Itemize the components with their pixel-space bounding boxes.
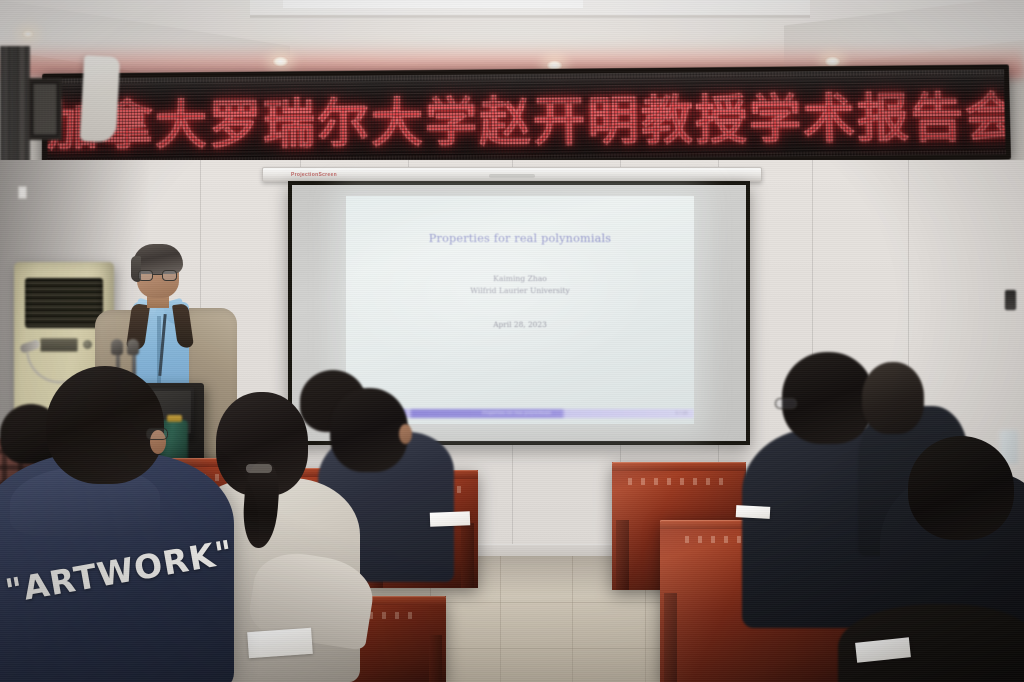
hair-tie [246, 464, 272, 473]
presenter-glasses [138, 270, 178, 281]
ceiling-recess-inner [283, 0, 583, 8]
paper-sheet [430, 511, 470, 526]
draped-cloth [80, 55, 120, 143]
ceiling-downlight [272, 56, 289, 67]
thermos-cap [167, 415, 182, 422]
projector-screen-housing[interactable]: ProjectionScreen [262, 167, 762, 182]
led-glass-sheen [47, 69, 1006, 163]
ac-control-knob[interactable] [83, 340, 92, 349]
led-banner: 加拿大罗瑞尔大学赵开明教授学术报告会 [42, 64, 1011, 168]
housing-center-mark [489, 174, 535, 178]
paper-sheet [736, 505, 771, 519]
audience-person-right2-head [862, 362, 924, 434]
wall-vent-frame [28, 78, 62, 140]
wall-light-switch[interactable] [18, 186, 27, 199]
audience-person-right3-head [908, 436, 1014, 540]
audience-person-suited-ear [399, 424, 412, 444]
projected-slide: Properties for real polynomials Kaiming … [346, 196, 694, 424]
paper-sheet [247, 628, 313, 658]
audience-person-right-head [782, 352, 874, 444]
ceiling-downlight [22, 30, 34, 38]
audience-person-suited-head [330, 388, 408, 472]
audience-person-right-glasses [775, 398, 797, 409]
lecture-hall-photo: 加拿大罗瑞尔大学赵开明教授学术报告会 ProjectionScreen Prop… [0, 0, 1024, 682]
housing-brand-label: ProjectionScreen [291, 172, 337, 178]
wall-sensor-device[interactable] [1005, 290, 1016, 310]
foreground-student-glasses [146, 428, 168, 440]
foreground-student-head [46, 366, 164, 484]
screen-glare [346, 196, 694, 424]
ac-air-grille [25, 278, 103, 328]
